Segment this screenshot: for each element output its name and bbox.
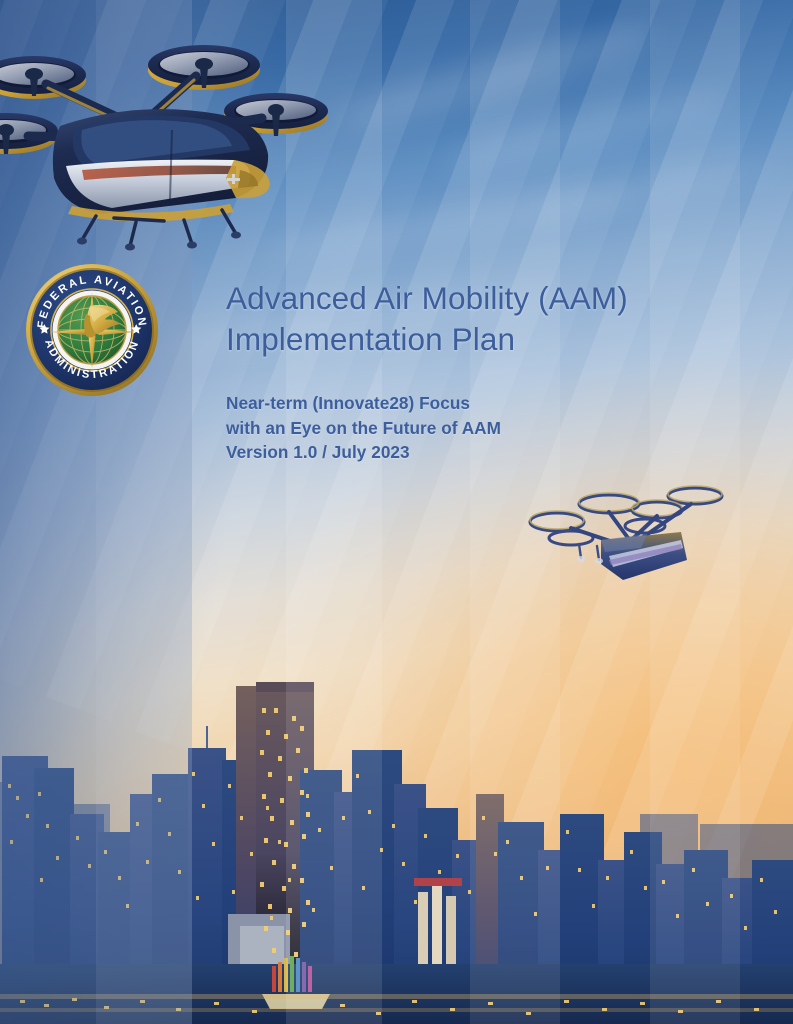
title-line-1: Advanced Air Mobility (AAM) [226,278,771,319]
page-subtitle: Near-term (Innovate28) Focus with an Eye… [226,391,771,465]
subtitle-line-3: Version 1.0 / July 2023 [226,440,771,465]
page-title: Advanced Air Mobility (AAM) Implementati… [226,278,771,360]
document-cover: FEDERAL AVIATION ADMINISTRATION Advanced… [0,0,793,1024]
subtitle-line-1: Near-term (Innovate28) Focus [226,391,771,416]
faa-seal: FEDERAL AVIATION ADMINISTRATION [24,262,160,398]
city-skyline [0,664,793,1024]
evtol-aircraft-distant [505,468,730,593]
evtol-aircraft-foreground [0,8,346,248]
title-line-2: Implementation Plan [226,319,771,360]
subtitle-line-2: with an Eye on the Future of AAM [226,416,771,441]
title-block: Advanced Air Mobility (AAM) Implementati… [226,278,771,465]
